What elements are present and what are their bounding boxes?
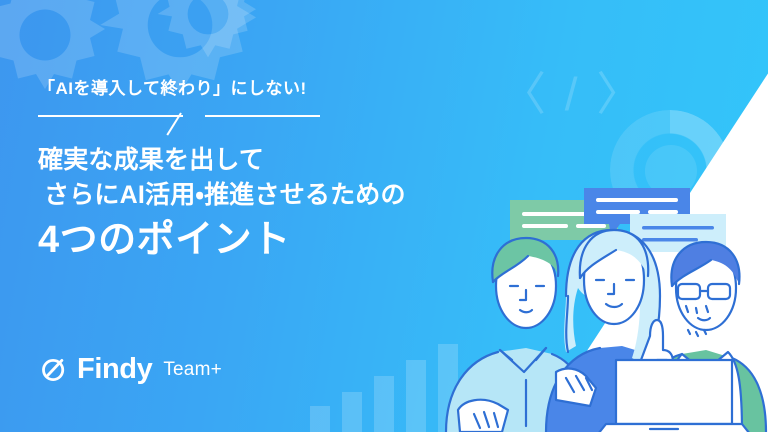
rule-segment-left [38,115,183,117]
rule-segment-right [205,115,320,117]
slide-canvas: 〈 / 〉 [0,0,768,432]
rule-decoration [38,105,320,129]
headline: 確実な成果を出して さらにAI活用・推進させるための [38,143,406,212]
logo-product-name: Team+ [163,360,222,379]
laptop-icon [598,360,750,432]
code-brackets-icon: 〈 / 〉 [500,58,645,124]
kicker-text: 「AIを導入して終わり」にしない! [38,78,406,99]
people-illustration [438,182,768,432]
findy-mark-icon [40,356,68,384]
logo-wordmark: Findy [77,355,152,384]
findy-logo: Findy Team+ [40,355,222,384]
copy-block: 「AIを導入して終わり」にしない! 確実な成果を出して さらにAI活用・推進させ… [38,78,406,264]
gear-icon [148,0,268,74]
headline-line-1: 確実な成果を出して [38,143,406,178]
headline-line-2: さらにAI活用・推進させるための [38,178,406,213]
emphasis-text: 4つのポイント [38,218,406,264]
